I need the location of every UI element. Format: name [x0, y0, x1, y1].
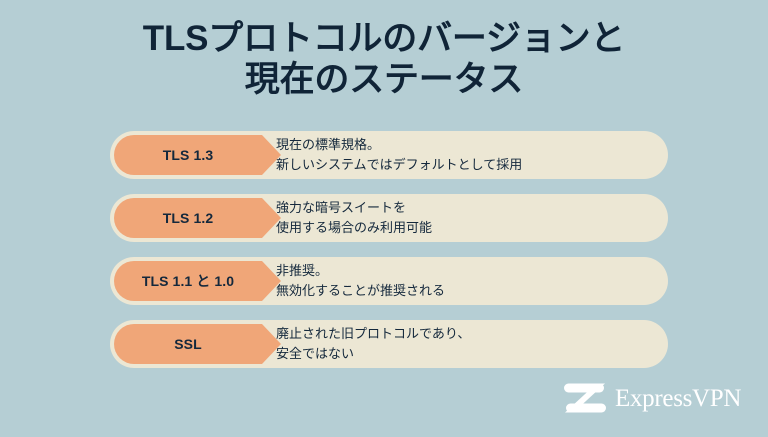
- protocol-description-line-1: 廃止された旧プロトコルであり、: [276, 324, 646, 344]
- protocol-badge-label: TLS 1.3: [163, 147, 214, 163]
- expressvpn-logo: ExpressVPN: [563, 378, 741, 418]
- protocol-description: 強力な暗号スイートを 使用する場合のみ利用可能: [276, 194, 646, 242]
- page-title: TLSプロトコルのバージョンと 現在のステータス: [0, 18, 768, 101]
- protocol-row: SSL 廃止された旧プロトコルであり、 安全ではない: [110, 320, 668, 368]
- protocol-row: TLS 1.2 強力な暗号スイートを 使用する場合のみ利用可能: [110, 194, 668, 242]
- protocol-description-line-2: 使用する場合のみ利用可能: [276, 218, 646, 238]
- protocol-badge-tls-1-3: TLS 1.3: [114, 135, 262, 175]
- protocol-description: 廃止された旧プロトコルであり、 安全ではない: [276, 320, 646, 368]
- protocol-row: TLS 1.3 現在の標準規格。 新しいシステムではデフォルトとして採用: [110, 131, 668, 179]
- page-title-line-2: 現在のステータス: [0, 59, 768, 100]
- protocol-list: TLS 1.3 現在の標準規格。 新しいシステムではデフォルトとして採用 TLS…: [110, 131, 668, 368]
- expressvpn-wordmark: ExpressVPN: [615, 386, 741, 411]
- protocol-description: 現在の標準規格。 新しいシステムではデフォルトとして採用: [276, 131, 646, 179]
- infographic-canvas: TLSプロトコルのバージョンと 現在のステータス TLS 1.3 現在の標準規格…: [0, 0, 768, 437]
- protocol-badge-ssl: SSL: [114, 324, 262, 364]
- protocol-badge-tls-1-2: TLS 1.2: [114, 198, 262, 238]
- protocol-description-line-2: 新しいシステムではデフォルトとして採用: [276, 155, 646, 175]
- protocol-description-line-1: 非推奨。: [276, 261, 646, 281]
- page-title-line-1: TLSプロトコルのバージョンと: [0, 18, 768, 59]
- protocol-description-line-1: 現在の標準規格。: [276, 135, 646, 155]
- protocol-description: 非推奨。 無効化することが推奨される: [276, 257, 646, 305]
- protocol-badge-tls-1-1-and-1-0: TLS 1.1 と 1.0: [114, 261, 262, 301]
- protocol-badge-label: TLS 1.2: [163, 210, 214, 226]
- protocol-badge-label: TLS 1.1 と 1.0: [142, 271, 234, 291]
- protocol-badge-label: SSL: [174, 336, 202, 352]
- protocol-row: TLS 1.1 と 1.0 非推奨。 無効化することが推奨される: [110, 257, 668, 305]
- expressvpn-e-mark-icon: [563, 381, 607, 415]
- protocol-description-line-1: 強力な暗号スイートを: [276, 198, 646, 218]
- protocol-description-line-2: 安全ではない: [276, 344, 646, 364]
- protocol-description-line-2: 無効化することが推奨される: [276, 281, 646, 301]
